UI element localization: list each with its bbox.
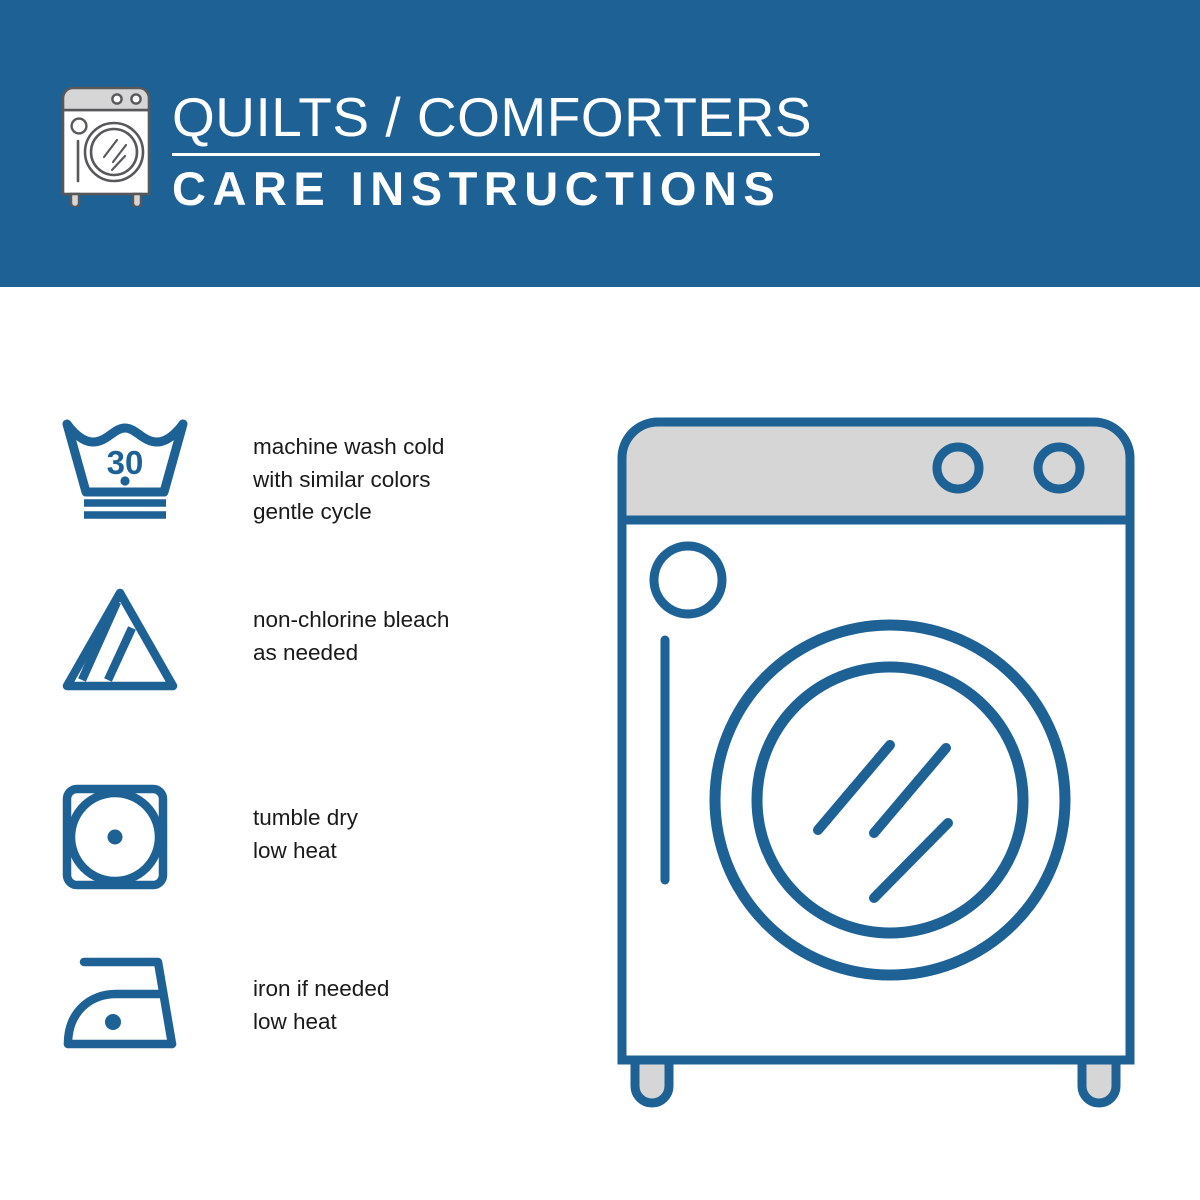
iron-icon	[60, 952, 190, 1052]
care-line: gentle cycle	[253, 496, 444, 529]
care-line: tumble dry	[253, 802, 358, 835]
care-line: low heat	[253, 835, 358, 868]
care-text-iron: iron if needed low heat	[253, 973, 389, 1038]
washing-machine-icon	[55, 82, 163, 207]
header-title-group: QUILTS / COMFORTERS CARE INSTRUCTIONS	[172, 86, 820, 216]
care-line: machine wash cold	[253, 431, 444, 464]
care-instruction-list: 30 machine wash cold with similar colors…	[0, 287, 560, 1200]
care-line: iron if needed	[253, 973, 389, 1006]
care-line: low heat	[253, 1006, 389, 1039]
care-line: non-chlorine bleach	[253, 604, 449, 637]
care-row-tumble-dry: tumble dry low heat	[0, 782, 560, 902]
page-subtitle: CARE INSTRUCTIONS	[172, 162, 820, 216]
control-knob-2	[1038, 447, 1080, 489]
wash-temperature-label: 30	[107, 444, 144, 481]
title-divider	[172, 153, 820, 156]
care-line: with similar colors	[253, 464, 444, 497]
page-title: QUILTS / COMFORTERS	[172, 86, 820, 148]
tumble-dry-icon	[60, 782, 175, 892]
control-knob-1	[937, 447, 979, 489]
indicator-light-icon	[654, 546, 722, 614]
care-text-bleach: non-chlorine bleach as needed	[253, 604, 449, 669]
care-text-machine-wash: machine wash cold with similar colors ge…	[253, 431, 444, 529]
care-row-bleach: non-chlorine bleach as needed	[0, 585, 560, 715]
care-row-iron: iron if needed low heat	[0, 952, 560, 1072]
front-load-washing-machine-illustration	[600, 400, 1180, 1120]
machine-wash-basin-icon: 30	[60, 416, 190, 526]
non-chlorine-bleach-triangle-icon	[60, 585, 180, 695]
care-row-machine-wash: 30 machine wash cold with similar colors…	[0, 416, 560, 566]
page-header: QUILTS / COMFORTERS CARE INSTRUCTIONS	[0, 0, 1200, 287]
care-line: as needed	[253, 637, 449, 670]
door-inner-ring	[757, 667, 1023, 933]
care-text-tumble-dry: tumble dry low heat	[253, 802, 358, 867]
